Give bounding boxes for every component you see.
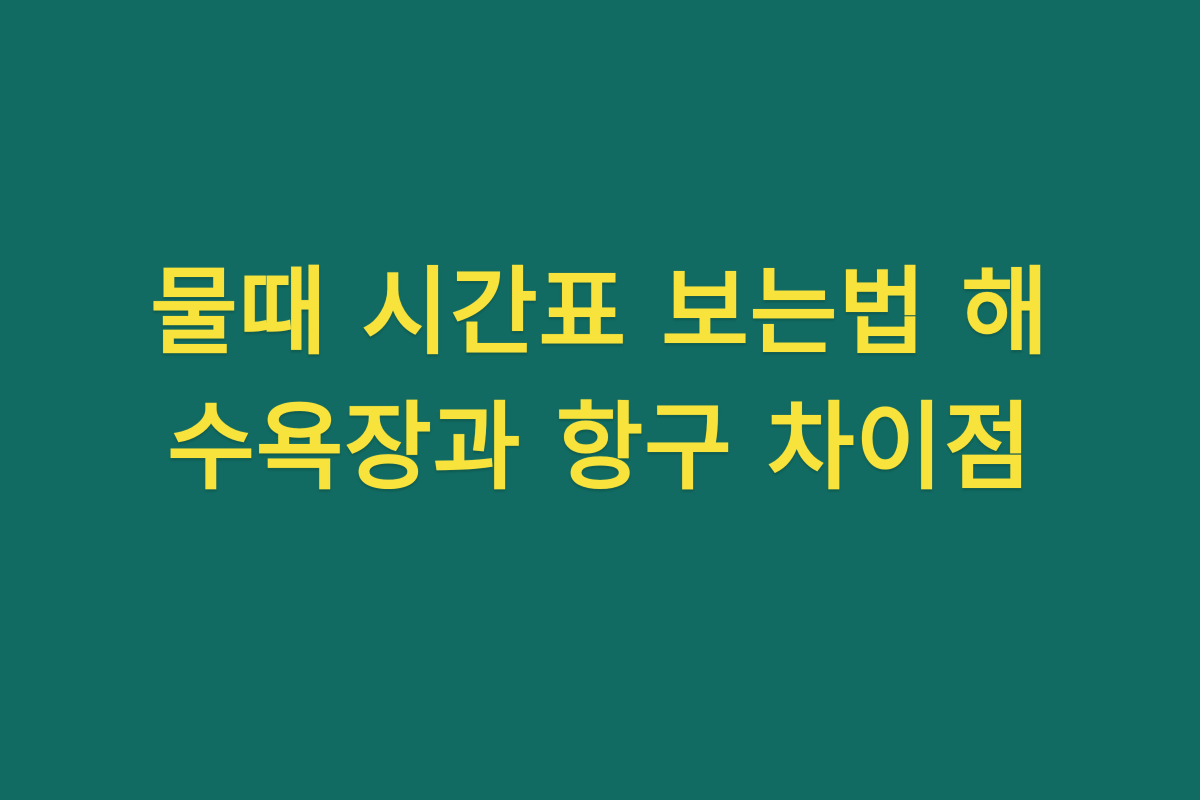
- title-line-1: 물때 시간표 보는법 해: [0, 246, 1200, 381]
- thumbnail-banner: 물때 시간표 보는법 해 수욕장과 항구 차이점: [0, 0, 1200, 800]
- title-line-2: 수욕장과 항구 차이점: [0, 381, 1200, 516]
- title-block: 물때 시간표 보는법 해 수욕장과 항구 차이점: [0, 0, 1200, 800]
